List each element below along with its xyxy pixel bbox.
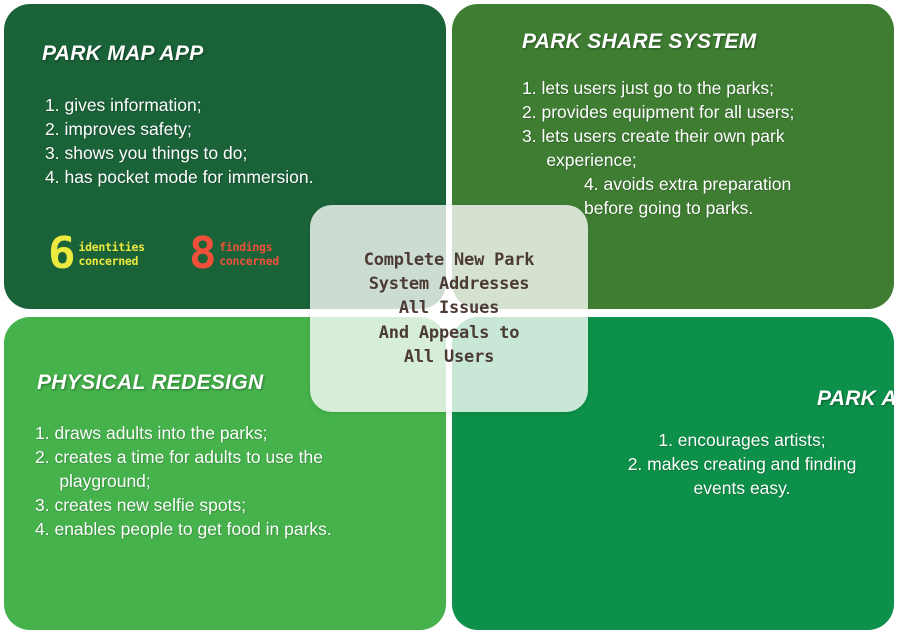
list-item: 4. has pocket mode for immersion. [45,166,415,190]
list-item: 3. shows you things to do; [45,142,415,166]
panel-list-park-arts-system: 1. encourages artists; 2. makes creating… [602,429,882,501]
list-item: 1. gives information; [45,94,415,118]
stat-identities-label: identities concerned [79,240,145,269]
list-item: 1. lets users just go to the parks; [522,77,882,101]
stat-findings-value: 8 [189,236,216,272]
list-item: 2. makes creating and finding events eas… [602,453,882,501]
stat-findings-label: findings concerned [219,240,279,269]
list-item: 2. improves safety; [45,118,415,142]
list-item: 1. encourages artists; [602,429,882,453]
list-item: 2. creates a time for adults to use the … [35,446,425,494]
panel-title-park-arts-system: PARK ARTS SYSTEM [817,387,894,411]
stat-identities: 6 identities concerned [48,236,145,272]
list-item: 4. enables people to get food in parks. [35,518,425,542]
panel-title-park-map-app: PARK MAP APP [42,42,204,66]
center-summary-text: Complete New Park System Addresses All I… [364,248,535,369]
stats-park-map-app: 6 identities concerned 8 findings concer… [48,236,279,272]
stat-findings: 8 findings concerned [189,236,279,272]
center-summary-box: Complete New Park System Addresses All I… [310,205,588,412]
list-item: 2. provides equipment for all users; [522,101,882,125]
diagram-canvas: PARK MAP APP 1. gives information; 2. im… [0,0,898,635]
stat-identities-value: 6 [48,236,75,272]
panel-title-physical-redesign: PHYSICAL REDESIGN [37,371,263,395]
panel-list-physical-redesign: 1. draws adults into the parks; 2. creat… [35,422,425,542]
list-item: 1. draws adults into the parks; [35,422,425,446]
panel-title-park-share-system: PARK SHARE SYSTEM [522,30,757,54]
panel-list-park-share-system: 1. lets users just go to the parks; 2. p… [522,77,882,221]
list-item: 3. creates new selfie spots; [35,494,425,518]
panel-list-park-map-app: 1. gives information; 2. improves safety… [45,94,415,190]
list-item: 3. lets users create their own park expe… [522,125,882,173]
